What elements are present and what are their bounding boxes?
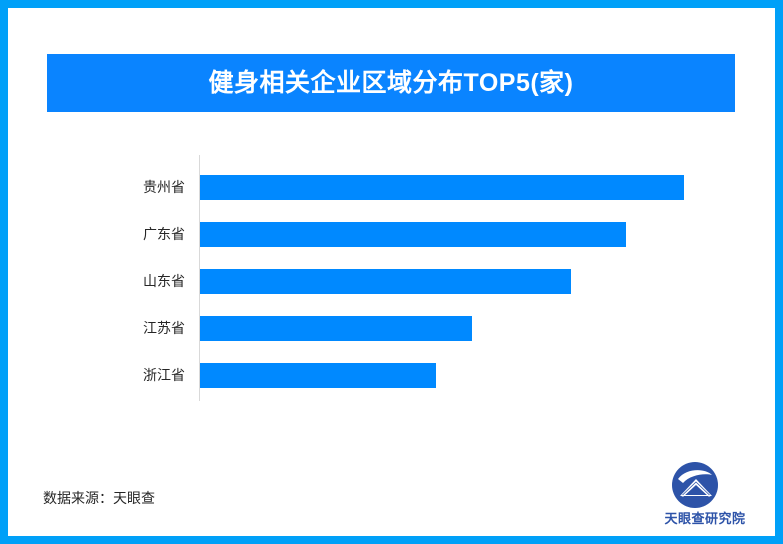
bar-category-label: 广东省 (0, 222, 185, 247)
chart-title-bar: 健身相关企业区域分布TOP5(家) (47, 54, 735, 112)
bar-row: 贵州省 (0, 175, 783, 222)
bar-row: 山东省 (0, 269, 783, 316)
chart-canvas: 健身相关企业区域分布TOP5(家) 贵州省广东省山东省江苏省浙江省 数据来源：天… (0, 0, 783, 544)
data-source-label: 数据来源：天眼查 (43, 488, 155, 508)
tianyancha-eagle-circle-logo-icon (672, 462, 718, 508)
bar-row: 江苏省 (0, 316, 783, 363)
frame-border-bottom (0, 536, 783, 544)
bar-江苏省 (200, 316, 472, 341)
bar-category-label: 山东省 (0, 269, 185, 294)
bar-山东省 (200, 269, 571, 294)
bar-贵州省 (200, 175, 684, 200)
bar-category-label: 贵州省 (0, 175, 185, 200)
page-title: 健身相关企业区域分布TOP5(家) (47, 54, 735, 112)
brand-logo-text: 天眼查研究院 (650, 508, 760, 527)
bar-category-label: 江苏省 (0, 316, 185, 341)
bar-chart-plot-area: 贵州省广东省山东省江苏省浙江省 (0, 155, 783, 403)
bar-广东省 (200, 222, 626, 247)
bar-category-label: 浙江省 (0, 363, 185, 388)
bar-row: 浙江省 (0, 363, 783, 410)
bar-浙江省 (200, 363, 436, 388)
bar-row: 广东省 (0, 222, 783, 269)
brand-logo: 天眼查研究院 (650, 462, 760, 528)
frame-border-top (0, 0, 783, 8)
bar-rows: 贵州省广东省山东省江苏省浙江省 (0, 175, 783, 410)
